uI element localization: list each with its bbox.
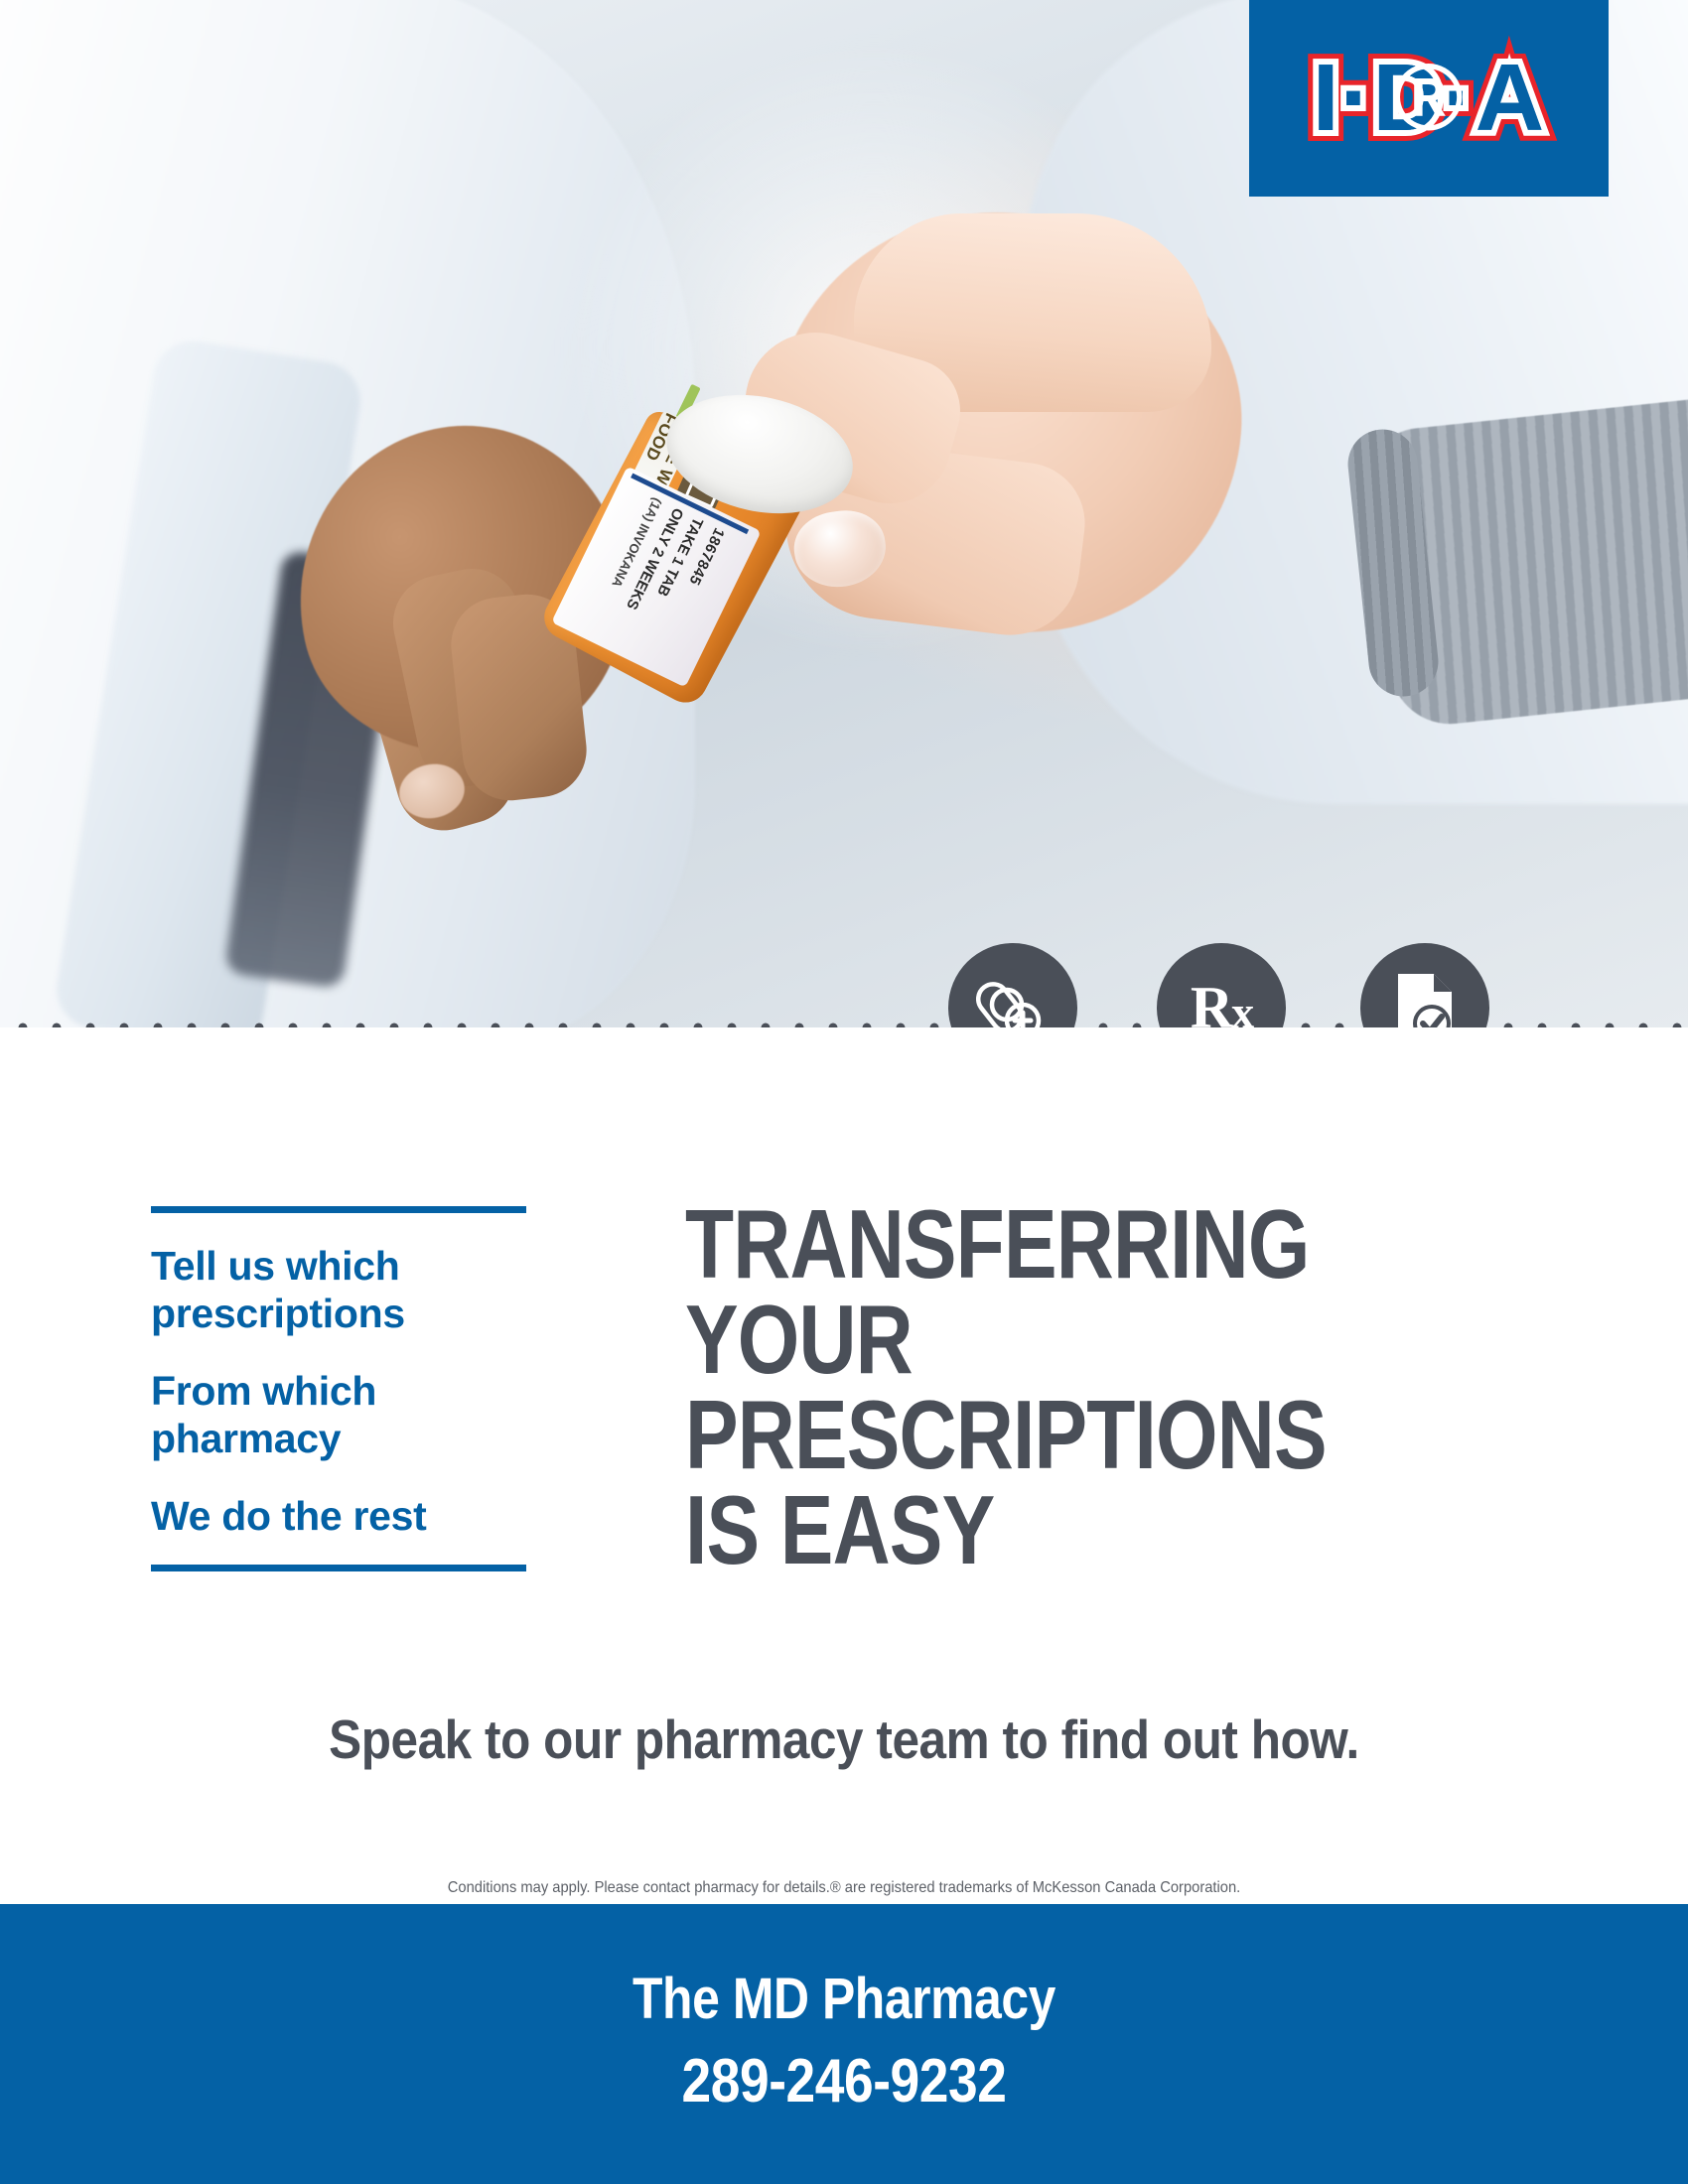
steps-rule-top	[151, 1206, 526, 1213]
ida-logo-lettering: I·D·A I·D·A I·D·A ®	[1280, 44, 1578, 153]
tagline: Speak to our pharmacy team to find out h…	[84, 1707, 1604, 1771]
hero-photo: TAKE WITH FOOD 1867845 TAKE 1 TAB ONLY 2…	[0, 0, 1688, 1027]
headline-line-1: TRANSFERRING	[685, 1196, 1418, 1292]
legal-fineprint: Conditions may apply. Please contact pha…	[68, 1879, 1620, 1897]
page-title: TRANSFERRING YOUR PRESCRIPTIONS IS EASY	[685, 1196, 1418, 1577]
headline-line-3: PRESCRIPTIONS	[685, 1387, 1418, 1482]
pharmacy-footer: The MD Pharmacy 289-246-9232	[0, 1904, 1688, 2184]
ida-logo-registered-mark: ®	[1280, 44, 1578, 153]
pharmacy-phone[interactable]: 289-246-9232	[118, 2046, 1570, 2116]
main-content: Tell us which prescriptions From which p…	[0, 1027, 1688, 1886]
step-item-1: Tell us which prescriptions	[151, 1243, 528, 1338]
ida-logo: I·D·A I·D·A I·D·A ®	[1249, 0, 1609, 197]
headline-line-2: YOUR	[685, 1292, 1418, 1387]
steps-list: Tell us which prescriptions From which p…	[151, 1206, 528, 1571]
steps-rule-bottom	[151, 1565, 526, 1571]
step-item-3: We do the rest	[151, 1493, 528, 1541]
step-item-2: From which pharmacy	[151, 1368, 528, 1463]
headline-line-4: IS EASY	[685, 1482, 1418, 1577]
pharmacy-name: The MD Pharmacy	[118, 1904, 1570, 2032]
